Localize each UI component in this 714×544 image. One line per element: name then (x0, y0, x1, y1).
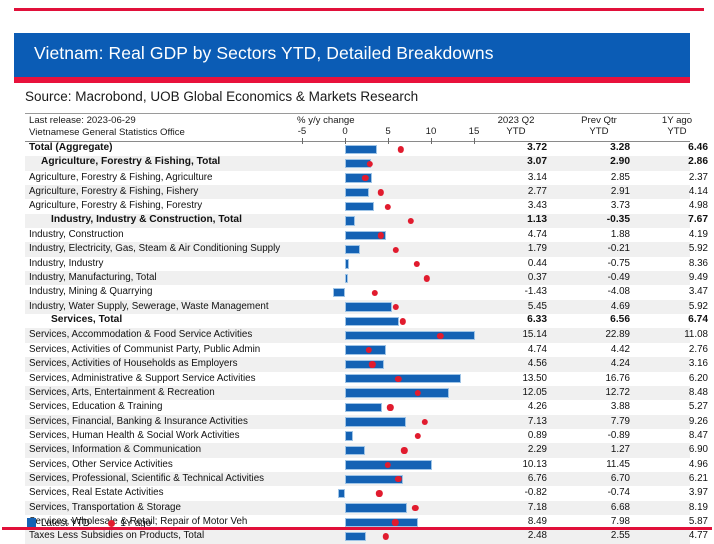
value-prev-qtr-ytd: 3.28 (574, 142, 630, 153)
value-prev-qtr-ytd: 1.88 (574, 229, 630, 240)
row-label: Services, Real Estate Activities (29, 487, 164, 498)
row-label: Agriculture, Forestry & Fishing, Fishery (29, 186, 198, 197)
row-label: Industry, Industry (29, 258, 103, 269)
value-1y-ago-ytd: 7.67 (652, 214, 708, 225)
dot-1y-ago (408, 218, 414, 224)
table-row: Industry, Electricity, Gas, Steam & Air … (25, 242, 690, 256)
value-prev-qtr-ytd: 16.76 (574, 373, 630, 384)
value-prev-qtr-ytd: -0.35 (574, 214, 630, 225)
value-prev-qtr-ytd: 7.79 (574, 416, 630, 427)
x-axis-title: % y/y change (297, 115, 355, 126)
row-label: Services, Human Health & Social Work Act… (29, 430, 240, 441)
value-1y-ago-ytd: 4.19 (652, 229, 708, 240)
table-row: Services, Other Service Activities10.131… (25, 458, 690, 472)
value-prev-qtr-ytd: -0.89 (574, 430, 630, 441)
legend-dot-swatch (108, 520, 116, 528)
row-plot (290, 486, 475, 500)
x-tick-label: -5 (298, 126, 307, 137)
value-prev-qtr-ytd: -0.49 (574, 272, 630, 283)
row-label: Industry, Water Supply, Sewerage, Waste … (29, 301, 269, 312)
value-latest-ytd: 8.49 (491, 516, 547, 527)
value-1y-ago-ytd: 2.76 (652, 344, 708, 355)
bar-latest-ytd (345, 274, 348, 283)
value-1y-ago-ytd: 6.20 (652, 373, 708, 384)
row-label: Services, Accommodation & Food Service A… (29, 329, 252, 340)
dot-1y-ago (366, 161, 372, 167)
table-row: Services, Transportation & Storage7.186.… (25, 501, 690, 515)
dot-1y-ago (414, 261, 420, 267)
value-latest-ytd: 4.74 (491, 344, 547, 355)
value-latest-ytd: 12.05 (491, 387, 547, 398)
row-plot (290, 142, 475, 156)
table-row: Industry, Industry0.44-0.758.36 (25, 257, 690, 271)
value-prev-qtr-ytd: 7.98 (574, 516, 630, 527)
value-latest-ytd: 13.50 (491, 373, 547, 384)
value-prev-qtr-ytd: 3.88 (574, 401, 630, 412)
value-1y-ago-ytd: 4.98 (652, 200, 708, 211)
value-1y-ago-ytd: 8.47 (652, 430, 708, 441)
value-1y-ago-ytd: 3.16 (652, 358, 708, 369)
dot-1y-ago (423, 275, 429, 281)
bottom-accent-rule (2, 527, 712, 530)
row-plot (290, 429, 475, 443)
value-prev-qtr-ytd: 2.85 (574, 172, 630, 183)
row-plot (290, 501, 475, 515)
value-prev-qtr-ytd: -4.08 (574, 286, 630, 297)
table-row: Agriculture, Forestry & Fishing, Forestr… (25, 199, 690, 213)
row-plot (290, 271, 475, 285)
column-header-1yago: 1Y ago YTD (646, 115, 708, 137)
value-1y-ago-ytd: 6.74 (652, 314, 708, 325)
bar-latest-ytd (345, 503, 407, 512)
page-title: Vietnam: Real GDP by Sectors YTD, Detail… (34, 43, 494, 64)
row-plot (290, 199, 475, 213)
column-header-prev-line1: Prev Qtr (568, 115, 630, 126)
bar-latest-ytd (345, 245, 360, 254)
value-1y-ago-ytd: 6.21 (652, 473, 708, 484)
row-plot (290, 185, 475, 199)
value-latest-ytd: 0.44 (491, 258, 547, 269)
value-latest-ytd: 4.26 (491, 401, 547, 412)
table-row: Industry, Construction4.741.884.19 (25, 228, 690, 242)
value-latest-ytd: 3.07 (491, 156, 547, 167)
data-rows: Total (Aggregate)3.723.286.46Agriculture… (25, 142, 690, 508)
row-plot (290, 300, 475, 314)
row-label: Services, Arts, Entertainment & Recreati… (29, 387, 215, 398)
table-row: Services, Activities of Households as Em… (25, 357, 690, 371)
value-1y-ago-ytd: 5.92 (652, 243, 708, 254)
value-prev-qtr-ytd: 6.56 (574, 314, 630, 325)
row-plot (290, 415, 475, 429)
row-label: Services, Total (51, 314, 122, 325)
row-plot (290, 529, 475, 543)
value-1y-ago-ytd: 6.46 (652, 142, 708, 153)
x-tick-label: 15 (469, 126, 480, 137)
dot-1y-ago (393, 247, 399, 253)
value-latest-ytd: 15.14 (491, 329, 547, 340)
value-prev-qtr-ytd: 4.24 (574, 358, 630, 369)
dot-1y-ago (401, 447, 407, 453)
value-1y-ago-ytd: 4.77 (652, 530, 708, 541)
row-plot (290, 443, 475, 457)
table-row: Services, Administrative & Support Servi… (25, 372, 690, 386)
table-row: Services, Professional, Scientific & Tec… (25, 472, 690, 486)
x-tick-label: 10 (426, 126, 437, 137)
value-latest-ytd: 3.72 (491, 142, 547, 153)
value-latest-ytd: 4.56 (491, 358, 547, 369)
value-1y-ago-ytd: 9.26 (652, 416, 708, 427)
value-prev-qtr-ytd: 3.73 (574, 200, 630, 211)
dot-1y-ago (376, 490, 382, 496)
table-row: Services, Information & Communication2.2… (25, 443, 690, 457)
row-label: Agriculture, Forestry & Fishing, Total (41, 156, 220, 167)
dot-1y-ago (400, 318, 406, 324)
table-row: Services, Financial, Banking & Insurance… (25, 415, 690, 429)
value-prev-qtr-ytd: 12.72 (574, 387, 630, 398)
table-row: Taxes Less Subsidies on Products, Total2… (25, 529, 690, 543)
value-1y-ago-ytd: 11.08 (652, 329, 708, 340)
top-accent-rule (14, 8, 704, 11)
row-plot (290, 214, 475, 228)
value-latest-ytd: 5.45 (491, 301, 547, 312)
table-row: Services, Arts, Entertainment & Recreati… (25, 386, 690, 400)
row-label: Services, Other Service Activities (29, 459, 173, 470)
column-header-prev: Prev Qtr YTD (568, 115, 630, 137)
row-plot (290, 314, 475, 328)
bar-latest-ytd (338, 489, 345, 498)
header-rule-top (25, 113, 690, 114)
bar-latest-ytd (345, 331, 475, 340)
table-row: Services, Human Health & Social Work Act… (25, 429, 690, 443)
value-latest-ytd: 1.13 (491, 214, 547, 225)
banner-underline (14, 77, 690, 83)
bar-latest-ytd (345, 360, 384, 369)
column-header-1yago-line1: 1Y ago (646, 115, 708, 126)
dot-1y-ago (372, 290, 378, 296)
row-plot (290, 285, 475, 299)
table-row: Agriculture, Forestry & Fishing, Total3.… (25, 156, 690, 170)
table-row: Services, Total6.336.566.74 (25, 314, 690, 328)
value-latest-ytd: -1.43 (491, 286, 547, 297)
value-latest-ytd: 2.29 (491, 444, 547, 455)
row-label: Taxes Less Subsidies on Products, Total (29, 530, 204, 541)
value-1y-ago-ytd: 8.19 (652, 502, 708, 513)
value-1y-ago-ytd: 3.47 (652, 286, 708, 297)
bar-latest-ytd (333, 288, 345, 297)
value-prev-qtr-ytd: 1.27 (574, 444, 630, 455)
row-plot (290, 458, 475, 472)
bar-latest-ytd (345, 259, 349, 268)
value-latest-ytd: 7.18 (491, 502, 547, 513)
value-prev-qtr-ytd: 2.91 (574, 186, 630, 197)
value-latest-ytd: 2.77 (491, 186, 547, 197)
dot-1y-ago (385, 204, 391, 210)
table-row: Industry, Manufacturing, Total0.37-0.499… (25, 271, 690, 285)
row-label: Agriculture, Forestry & Fishing, Agricul… (29, 172, 213, 183)
agency-text: Vietnamese General Statistics Office (29, 127, 185, 138)
bar-latest-ytd (345, 302, 392, 311)
bar-latest-ytd (345, 388, 449, 397)
bar-latest-ytd (345, 145, 377, 154)
row-label: Industry, Industry & Construction, Total (51, 214, 242, 225)
x-tick-label: 0 (342, 126, 347, 137)
bar-latest-ytd (345, 188, 369, 197)
row-label: Services, Professional, Scientific & Tec… (29, 473, 264, 484)
row-label: Services, Activities of Households as Em… (29, 358, 238, 369)
value-latest-ytd: 6.33 (491, 314, 547, 325)
value-prev-qtr-ytd: 6.70 (574, 473, 630, 484)
value-1y-ago-ytd: 5.92 (652, 301, 708, 312)
table-row: Services, Activities of Communist Party,… (25, 343, 690, 357)
value-prev-qtr-ytd: 2.55 (574, 530, 630, 541)
row-plot (290, 400, 475, 414)
row-plot (290, 386, 475, 400)
row-plot (290, 228, 475, 242)
bar-latest-ytd (345, 403, 382, 412)
bar-latest-ytd (345, 417, 406, 426)
bar-latest-ytd (345, 431, 353, 440)
row-label: Total (Aggregate) (29, 142, 113, 153)
row-plot (290, 171, 475, 185)
value-1y-ago-ytd: 5.27 (652, 401, 708, 412)
bar-latest-ytd (345, 202, 374, 211)
value-latest-ytd: 7.13 (491, 416, 547, 427)
row-label: Industry, Mining & Quarrying (29, 286, 152, 297)
row-plot (290, 257, 475, 271)
row-plot (290, 357, 475, 371)
value-1y-ago-ytd: 8.36 (652, 258, 708, 269)
bar-latest-ytd (345, 446, 365, 455)
dot-1y-ago (412, 505, 418, 511)
value-prev-qtr-ytd: 4.69 (574, 301, 630, 312)
value-prev-qtr-ytd: 11.45 (574, 459, 630, 470)
row-plot (290, 472, 475, 486)
source-caption: Source: Macrobond, UOB Global Economics … (25, 89, 418, 104)
value-prev-qtr-ytd: -0.75 (574, 258, 630, 269)
dot-1y-ago (377, 189, 383, 195)
table-row: Agriculture, Forestry & Fishing, Fishery… (25, 185, 690, 199)
row-plot (290, 242, 475, 256)
dot-1y-ago (421, 419, 427, 425)
chart-table-frame: Last release: 2023-06-29 Vietnamese Gene… (25, 113, 690, 515)
column-header-latest-line2: YTD (485, 126, 547, 137)
value-1y-ago-ytd: 2.37 (652, 172, 708, 183)
value-latest-ytd: 1.79 (491, 243, 547, 254)
value-1y-ago-ytd: 9.49 (652, 272, 708, 283)
table-row: Industry, Industry & Construction, Total… (25, 214, 690, 228)
row-plot (290, 156, 475, 170)
bar-latest-ytd (345, 216, 355, 225)
table-row: Services, Education & Training4.263.885.… (25, 400, 690, 414)
value-1y-ago-ytd: 5.87 (652, 516, 708, 527)
row-label: Industry, Electricity, Gas, Steam & Air … (29, 243, 280, 254)
column-header-prev-line2: YTD (568, 126, 630, 137)
value-prev-qtr-ytd: -0.21 (574, 243, 630, 254)
value-latest-ytd: 4.74 (491, 229, 547, 240)
value-1y-ago-ytd: 8.48 (652, 387, 708, 398)
value-1y-ago-ytd: 4.14 (652, 186, 708, 197)
row-label: Services, Information & Communication (29, 444, 201, 455)
value-1y-ago-ytd: 3.97 (652, 487, 708, 498)
bar-latest-ytd (345, 374, 461, 383)
table-row: Agriculture, Forestry & Fishing, Agricul… (25, 171, 690, 185)
row-plot (290, 328, 475, 342)
table-row: Services, Real Estate Activities-0.82-0.… (25, 486, 690, 500)
value-latest-ytd: 10.13 (491, 459, 547, 470)
bar-latest-ytd (345, 518, 418, 527)
row-plot (290, 343, 475, 357)
dot-1y-ago (397, 146, 403, 152)
row-label: Services, Administrative & Support Servi… (29, 373, 256, 384)
x-tick-label: 5 (385, 126, 390, 137)
value-latest-ytd: 2.48 (491, 530, 547, 541)
value-latest-ytd: 0.89 (491, 430, 547, 441)
row-plot (290, 372, 475, 386)
value-prev-qtr-ytd: 6.68 (574, 502, 630, 513)
legend-bar-swatch (27, 518, 36, 527)
value-prev-qtr-ytd: 2.90 (574, 156, 630, 167)
row-label: Industry, Construction (29, 229, 124, 240)
table-row: Industry, Mining & Quarrying-1.43-4.083.… (25, 285, 690, 299)
row-label: Industry, Manufacturing, Total (29, 272, 157, 283)
table-row: Total (Aggregate)3.723.286.46 (25, 142, 690, 156)
row-label: Services, Education & Training (29, 401, 162, 412)
dot-1y-ago (393, 304, 399, 310)
value-1y-ago-ytd: 2.86 (652, 156, 708, 167)
value-latest-ytd: 0.37 (491, 272, 547, 283)
bar-latest-ytd (345, 317, 399, 326)
value-prev-qtr-ytd: 22.89 (574, 329, 630, 340)
value-latest-ytd: 6.76 (491, 473, 547, 484)
title-banner: Vietnam: Real GDP by Sectors YTD, Detail… (14, 33, 690, 77)
value-latest-ytd: -0.82 (491, 487, 547, 498)
value-prev-qtr-ytd: -0.74 (574, 487, 630, 498)
row-label: Agriculture, Forestry & Fishing, Forestr… (29, 200, 202, 211)
column-header-1yago-line2: YTD (646, 126, 708, 137)
column-header-latest-line1: 2023 Q2 (485, 115, 547, 126)
table-row: Industry, Water Supply, Sewerage, Waste … (25, 300, 690, 314)
value-1y-ago-ytd: 4.96 (652, 459, 708, 470)
table-row: Services, Accommodation & Food Service A… (25, 328, 690, 342)
column-header-latest: 2023 Q2 YTD (485, 115, 547, 137)
dot-1y-ago (387, 404, 393, 410)
value-latest-ytd: 3.43 (491, 200, 547, 211)
row-label: Services, Activities of Communist Party,… (29, 344, 260, 355)
row-label: Services, Financial, Banking & Insurance… (29, 416, 248, 427)
value-prev-qtr-ytd: 4.42 (574, 344, 630, 355)
last-release-text: Last release: 2023-06-29 (29, 115, 136, 126)
value-latest-ytd: 3.14 (491, 172, 547, 183)
dot-1y-ago (415, 433, 421, 439)
row-label: Services, Transportation & Storage (29, 502, 181, 513)
value-1y-ago-ytd: 6.90 (652, 444, 708, 455)
